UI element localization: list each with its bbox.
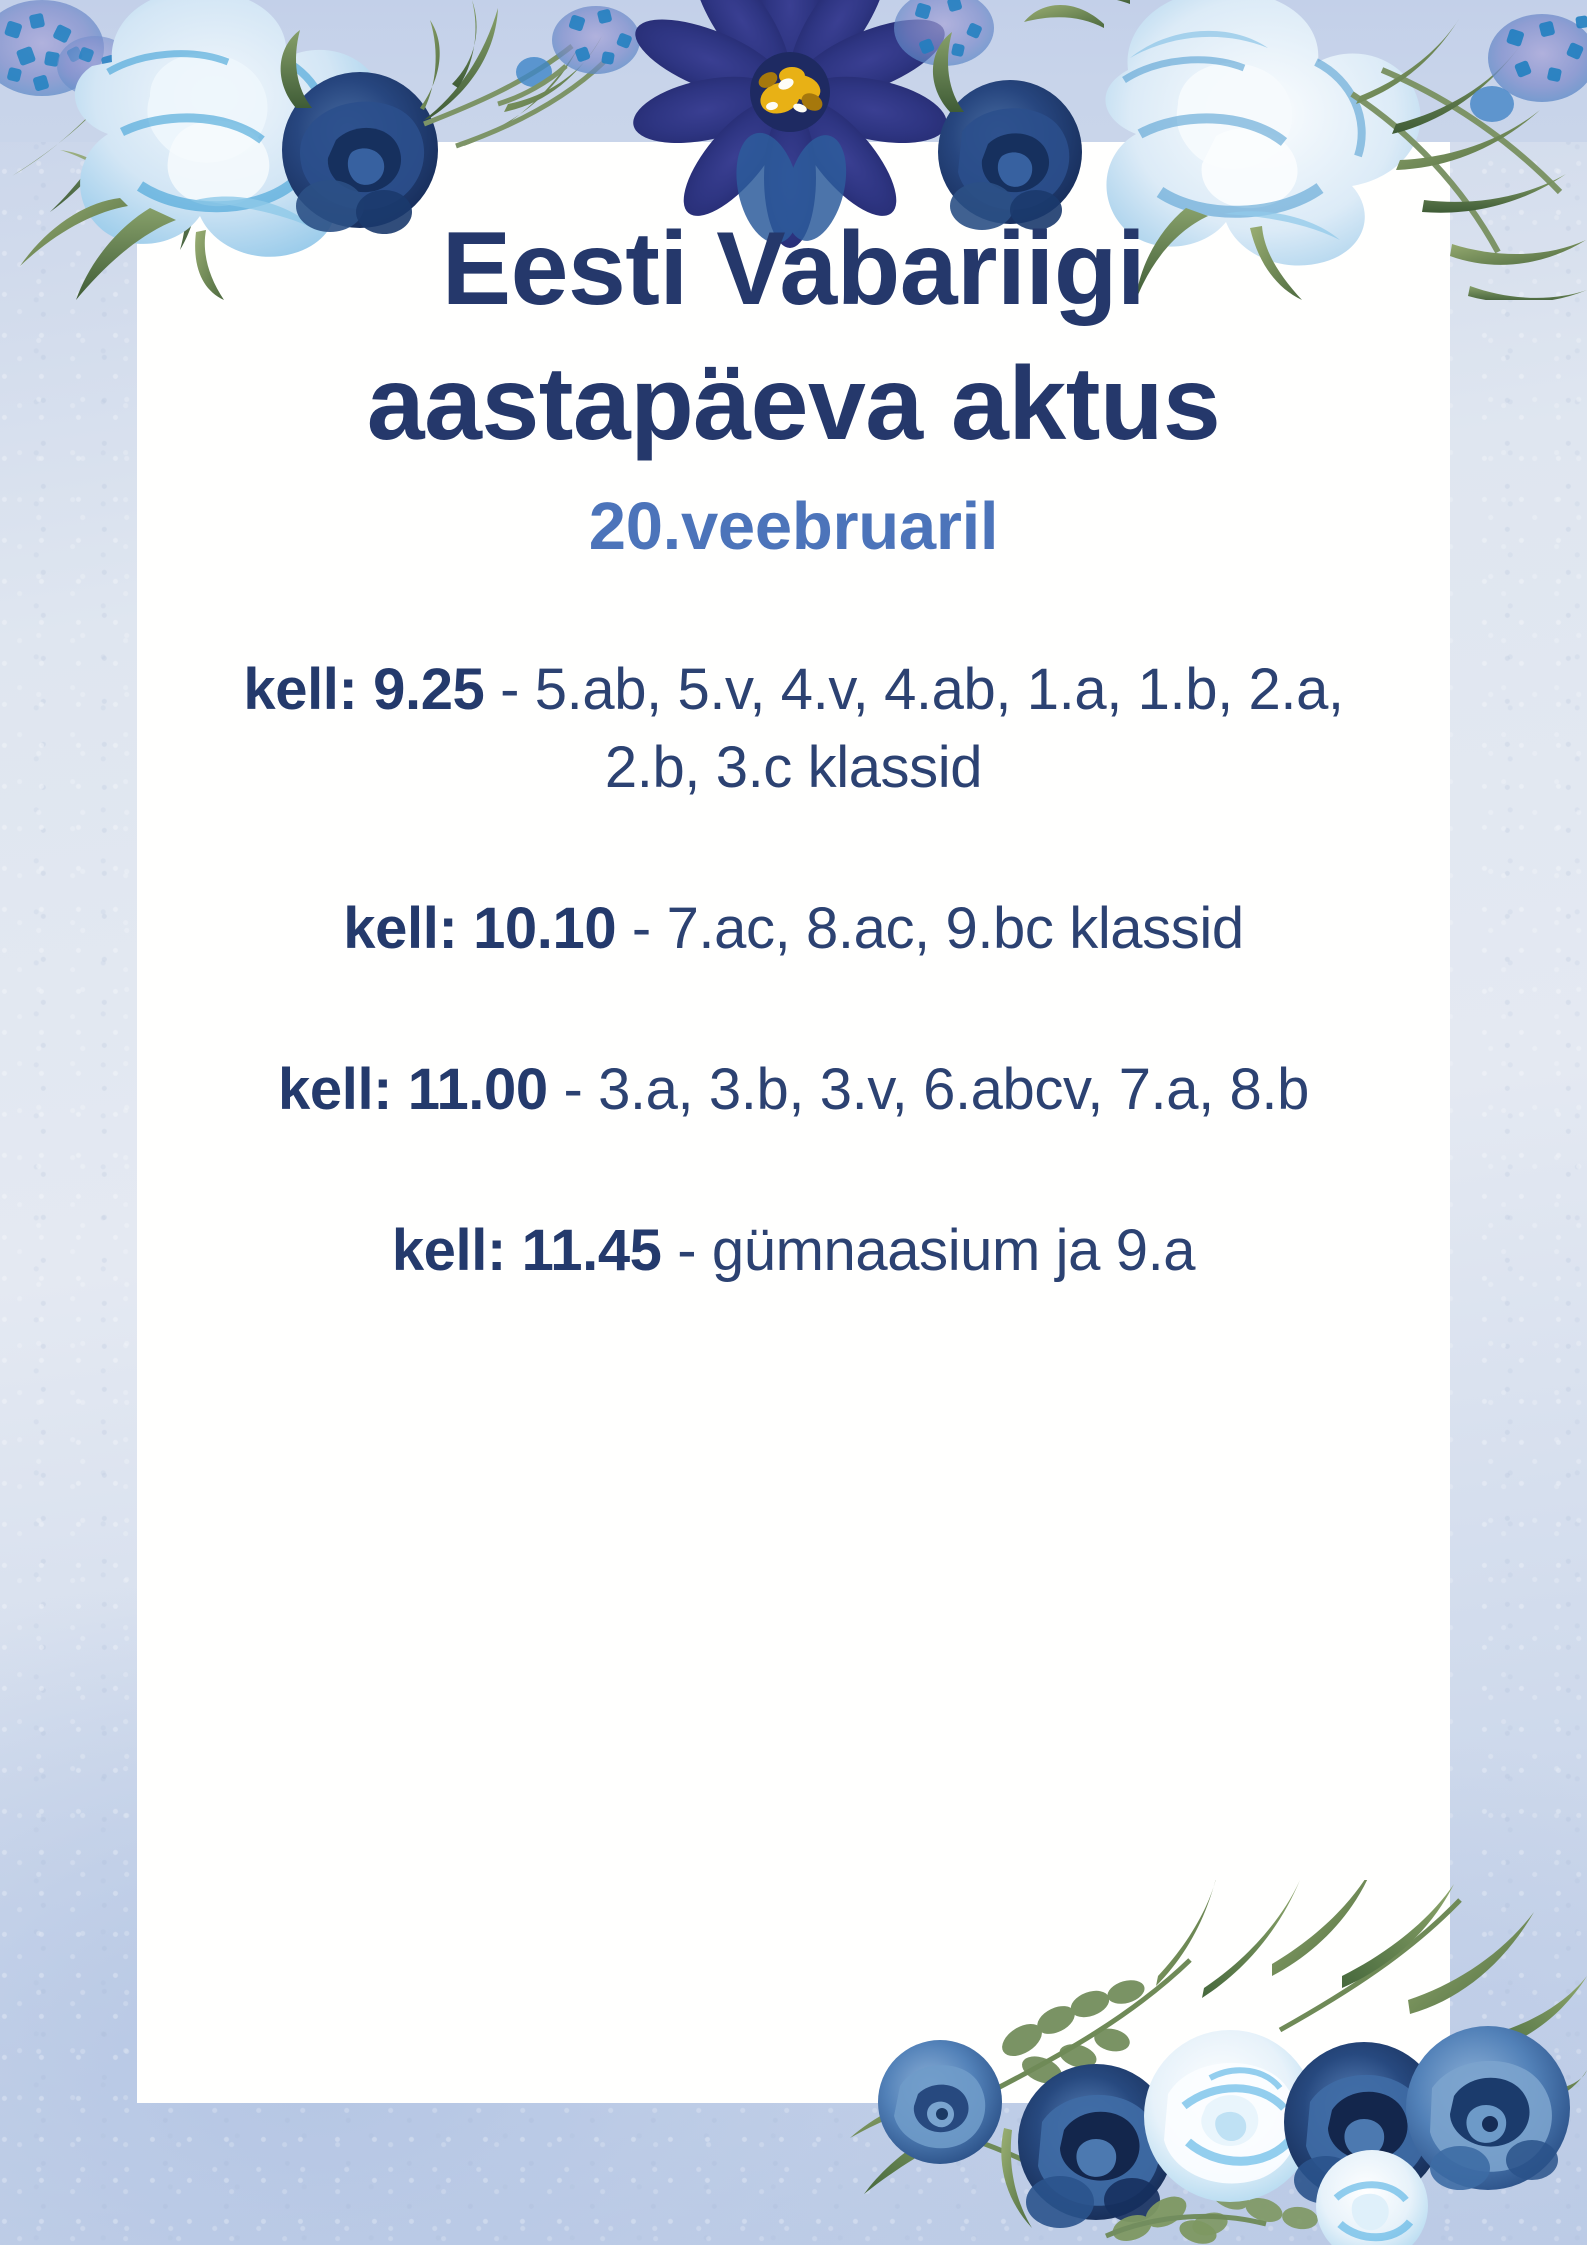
page-title: Eesti Vabariigi aastapäeva aktus bbox=[179, 140, 1409, 472]
schedule-time: kell: 11.45 bbox=[392, 1218, 662, 1283]
schedule-dash: - bbox=[548, 1057, 598, 1122]
rose-white-bottom bbox=[1316, 2150, 1428, 2245]
schedule-dash: - bbox=[484, 657, 534, 722]
schedule-dash: - bbox=[662, 1218, 712, 1283]
poster-subtitle: 20.veebruaril bbox=[589, 488, 999, 565]
schedule-row: kell: 10.10 - 7.ac, 8.ac, 9.bc klassid bbox=[206, 890, 1381, 967]
schedule-classes: gümnaasium ja 9.a bbox=[712, 1218, 1195, 1283]
bottom-olive-sprig bbox=[1106, 2190, 1266, 2245]
schedule-row: kell: 11.00 - 3.a, 3.b, 3.v, 6.abcv, 7.a… bbox=[206, 1051, 1381, 1128]
schedule-time: kell: 11.00 bbox=[278, 1057, 548, 1122]
schedule-classes: 7.ac, 8.ac, 9.bc klassid bbox=[667, 896, 1244, 961]
schedule-time: kell: 10.10 bbox=[343, 896, 616, 961]
schedule-list: kell: 9.25 - 5.ab, 5.v, 4.v, 4.ab, 1.a, … bbox=[206, 651, 1381, 1289]
poster-canvas: Eesti Vabariigi aastapäeva aktus 20.veeb… bbox=[0, 0, 1587, 2245]
schedule-dash: - bbox=[616, 896, 666, 961]
top-background-band bbox=[0, 0, 1587, 142]
schedule-row: kell: 9.25 - 5.ab, 5.v, 4.v, 4.ab, 1.a, … bbox=[206, 651, 1381, 805]
schedule-time: kell: 9.25 bbox=[243, 657, 484, 722]
poster-content: Eesti Vabariigi aastapäeva aktus 20.veeb… bbox=[137, 140, 1450, 2103]
schedule-row: kell: 11.45 - gümnaasium ja 9.a bbox=[206, 1212, 1381, 1289]
schedule-classes: 3.a, 3.b, 3.v, 6.abcv, 7.a, 8.b bbox=[598, 1057, 1309, 1122]
schedule-classes: 5.ab, 5.v, 4.v, 4.ab, 1.a, 1.b, 2.a, 2.b… bbox=[535, 657, 1344, 799]
